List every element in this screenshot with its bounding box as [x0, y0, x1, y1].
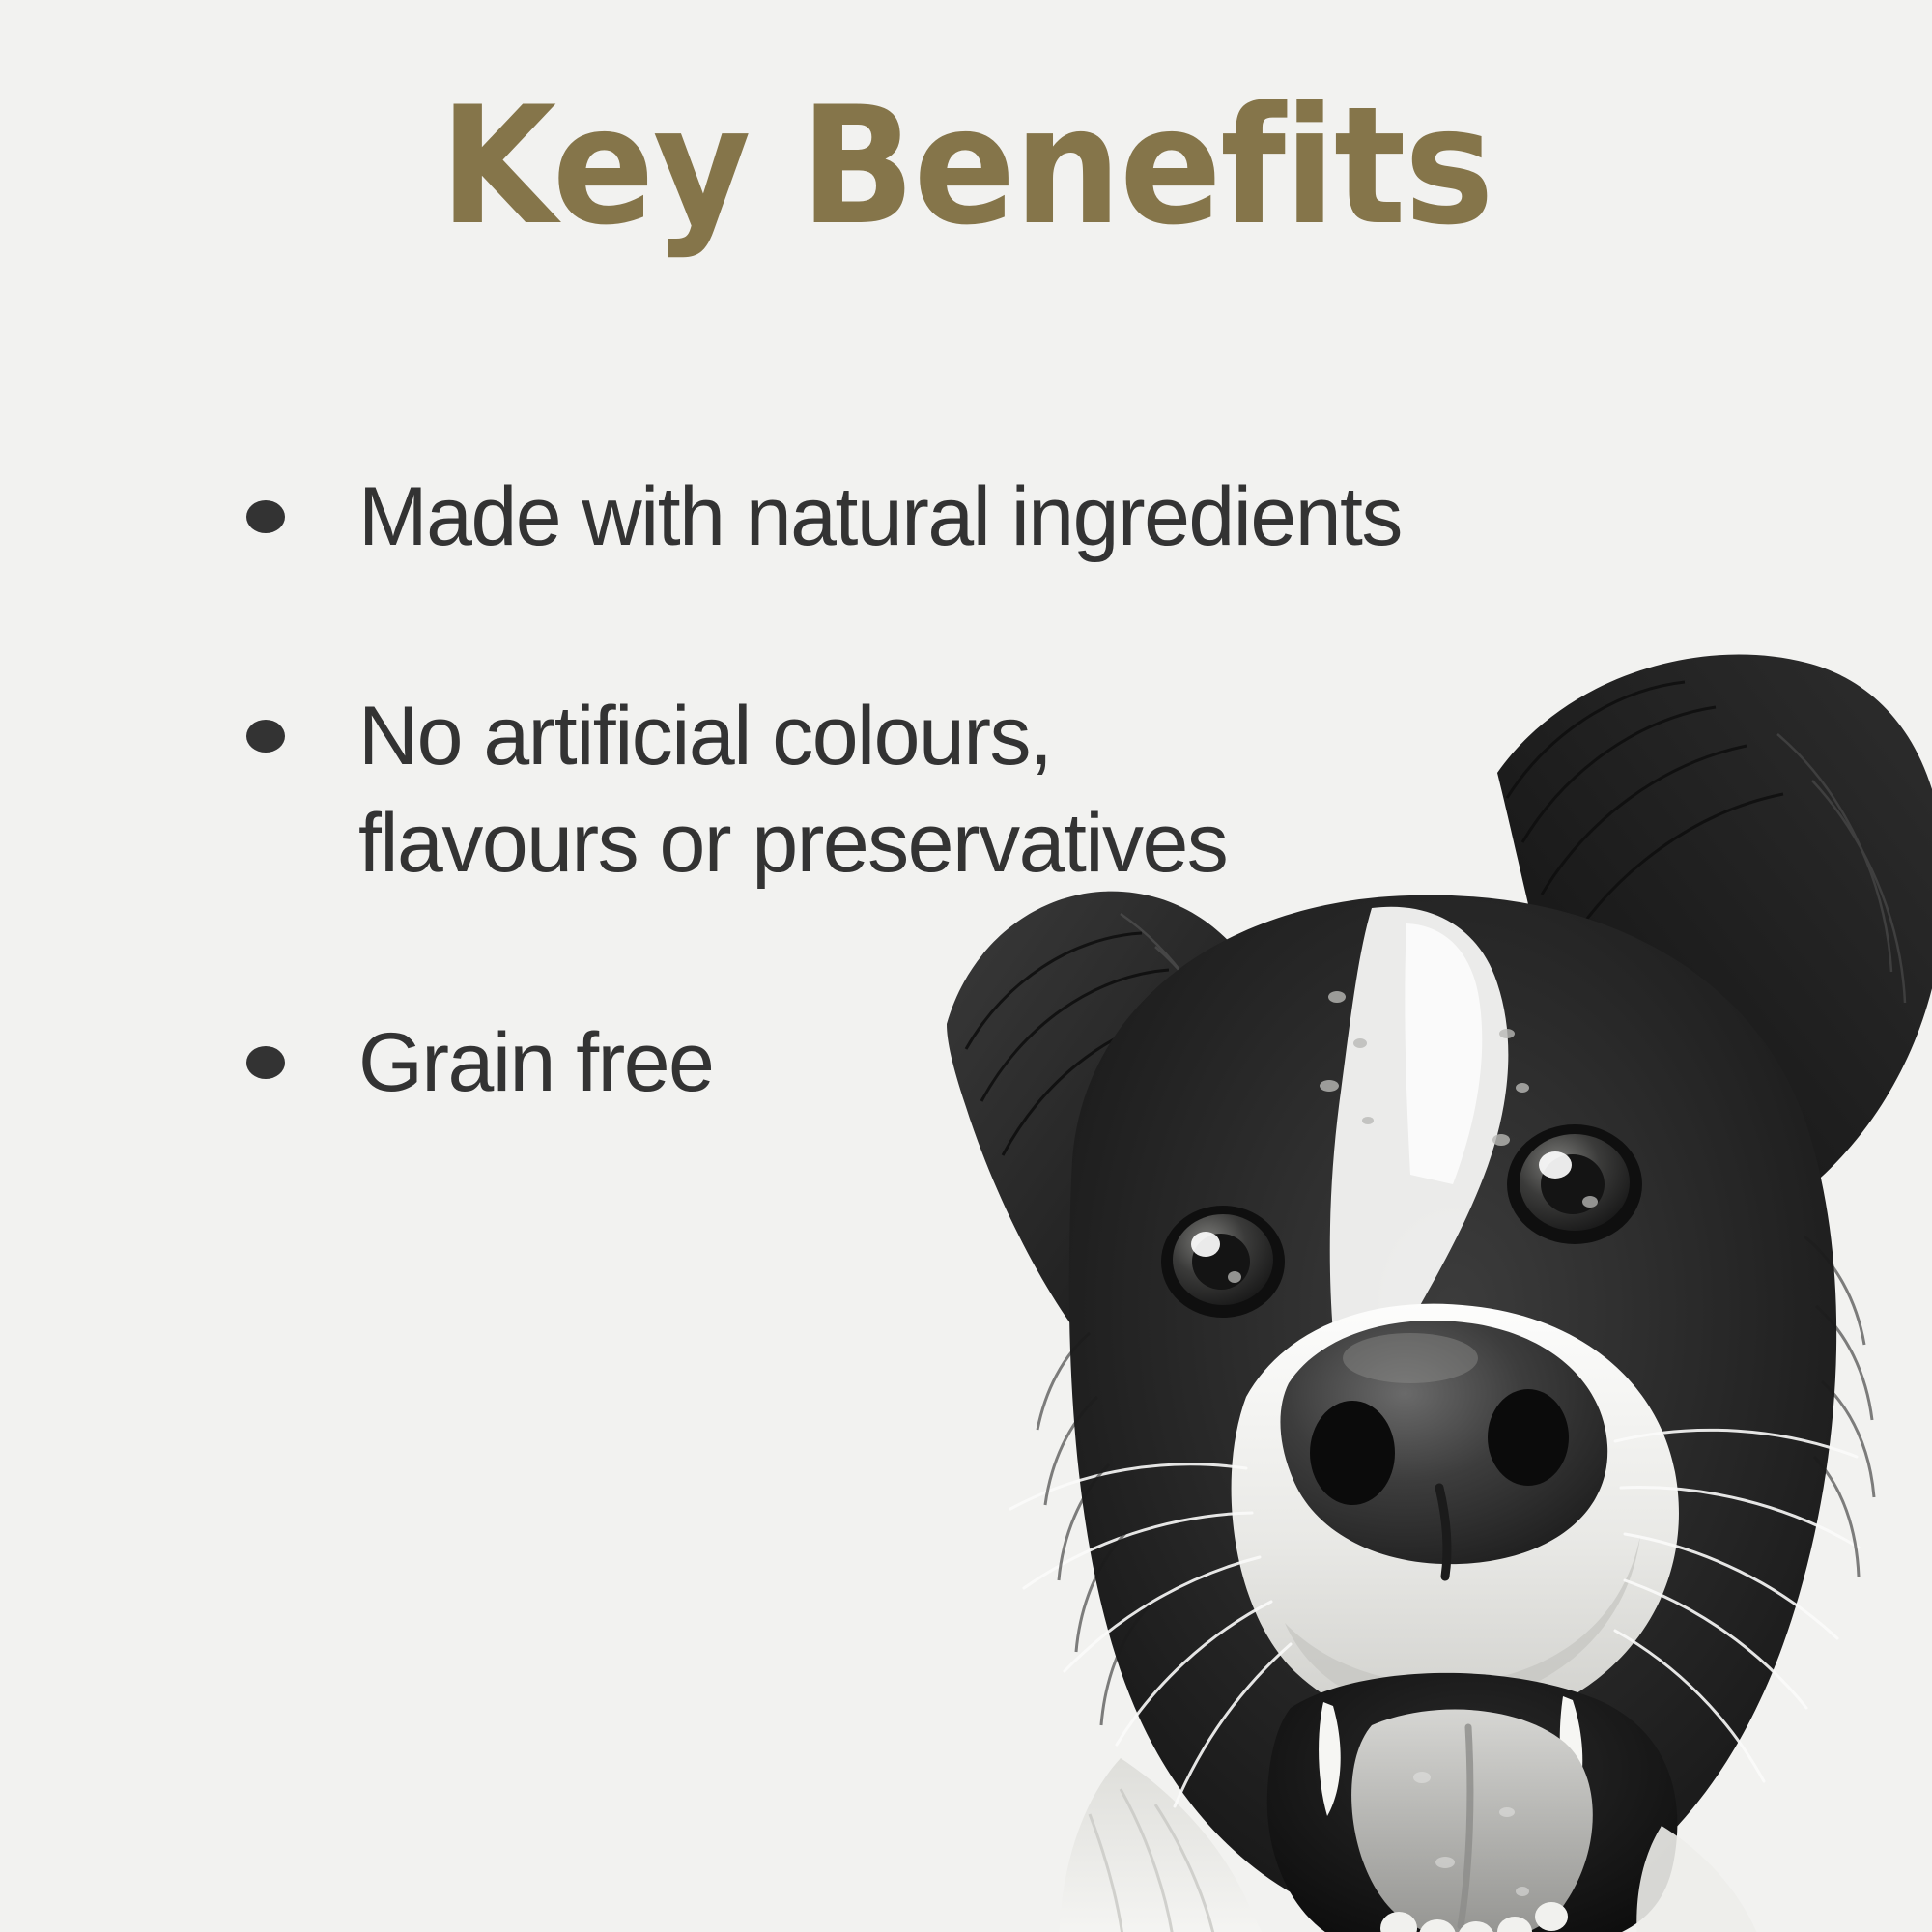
page-title: Key Benefits: [68, 85, 1864, 247]
dog-chest-ruff: [1059, 1758, 1764, 1932]
dog-fur-texture: [1037, 1236, 1874, 1725]
bullet-dot-icon: [246, 720, 285, 753]
dog-right-eye: [1507, 1124, 1642, 1244]
dog-whiskers: [1010, 1430, 1859, 1806]
list-item: No artificial colours, flavours or prese…: [246, 683, 1521, 897]
bullet-dot-icon: [246, 1046, 285, 1079]
dog-nose: [1280, 1321, 1607, 1577]
bullet-dot-icon: [246, 500, 285, 533]
benefit-text: Grain free: [358, 1009, 1521, 1117]
list-item: Made with natural ingredients: [246, 464, 1521, 571]
promo-card: Key Benefits Made with natural ingredien…: [0, 0, 1932, 1932]
benefit-text: Made with natural ingredients: [358, 464, 1521, 571]
benefits-list: Made with natural ingredients No artific…: [246, 464, 1521, 1117]
dog-right-ear: [1497, 655, 1932, 1233]
dog-muzzle: [1232, 1304, 1679, 1730]
list-item: Grain free: [246, 1009, 1521, 1117]
dog-left-eye: [1161, 1206, 1285, 1318]
dog-mouth: [1267, 1673, 1678, 1932]
benefit-text: No artificial colours, flavours or prese…: [358, 683, 1521, 897]
